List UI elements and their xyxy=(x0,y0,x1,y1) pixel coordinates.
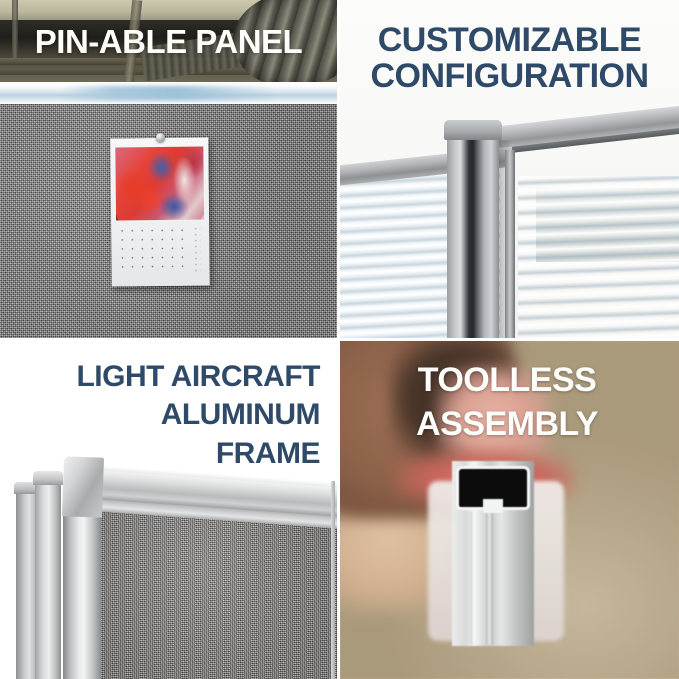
extrusion-rib-secondary xyxy=(467,511,472,645)
product-feature-collage: PIN-ABLE PANEL CUSTOMIZABLECONFIGURATION… xyxy=(0,0,679,679)
caption-line-2: CONFIGURATION xyxy=(370,57,648,95)
frame-right-edge xyxy=(331,481,335,679)
push-pin-icon xyxy=(156,133,165,142)
gray-fabric-insert xyxy=(101,504,337,679)
panel-toolless-assembly: TOOLLESSASSEMBLY xyxy=(340,341,679,679)
venetian-blinds-right xyxy=(518,176,679,338)
frame-post-front xyxy=(63,491,101,679)
panel-light-aircraft-aluminum-frame: LIGHT AIRCRAFTALUMINUMFRAME xyxy=(0,341,337,679)
caption-customizable-configuration: CUSTOMIZABLECONFIGURATION xyxy=(340,22,679,94)
post-cap xyxy=(444,120,502,140)
caption-line-1: TOOLLESS xyxy=(418,361,597,399)
caption-line-2: ALUMINUM xyxy=(161,398,320,431)
frame-post-middle xyxy=(35,479,61,679)
calendar-month-label xyxy=(193,226,201,276)
fluorescent-light-strip xyxy=(0,82,337,104)
panel-customizable-configuration: CUSTOMIZABLECONFIGURATION xyxy=(340,0,679,338)
caption-toolless-assembly: TOOLLESSASSEMBLY xyxy=(340,359,674,446)
caption-pin-able-panel: PIN-ABLE PANEL xyxy=(0,25,337,60)
caption-light-aircraft-aluminum-frame: LIGHT AIRCRAFTALUMINUMFRAME xyxy=(0,358,320,473)
caption-line-3: FRAME xyxy=(216,437,320,470)
wall-calendar xyxy=(110,137,210,286)
channel-notch xyxy=(483,499,503,513)
caption-line-1: CUSTOMIZABLE xyxy=(378,21,641,59)
caption-line-2: ASSEMBLY xyxy=(416,405,598,443)
caption-line-1: LIGHT AIRCRAFT xyxy=(76,360,320,393)
calendar-artwork xyxy=(115,147,204,221)
glass-mullion xyxy=(505,150,515,338)
extrusion-rib xyxy=(486,507,493,645)
calendar-date-grid xyxy=(117,226,187,275)
corner-connector-post xyxy=(447,132,499,338)
panel-pin-able-panel: PIN-ABLE PANEL xyxy=(0,0,337,338)
